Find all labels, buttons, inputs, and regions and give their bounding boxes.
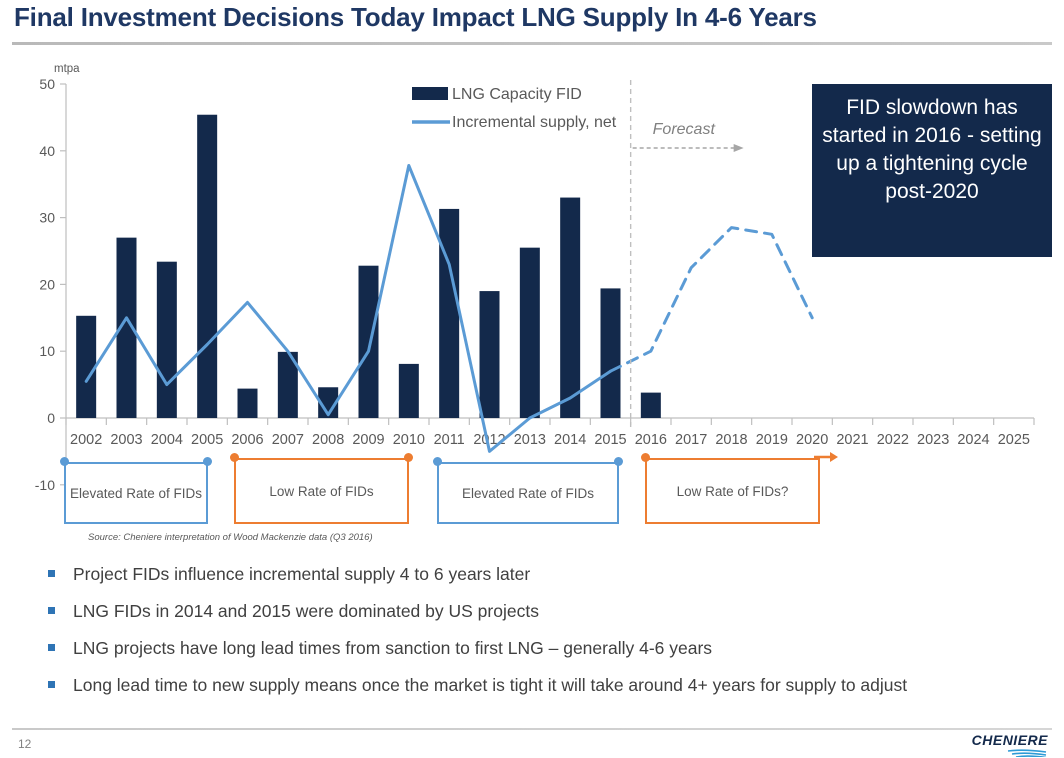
annotation-label: Elevated Rate of FIDs <box>462 485 594 502</box>
x-tick-label-2005: 2005 <box>191 432 223 448</box>
annotation-endpoint-dot <box>230 453 239 462</box>
annotation-endpoint-dot <box>60 457 69 466</box>
bullet-marker-icon <box>48 644 55 651</box>
x-tick-label-2014: 2014 <box>554 432 586 448</box>
forecast-label: Forecast <box>653 121 716 138</box>
annotation-label: Low Rate of FIDs? <box>677 483 789 500</box>
x-tick-label-2004: 2004 <box>151 432 183 448</box>
annotation-box-3: Elevated Rate of FIDs <box>437 462 619 524</box>
x-tick-label-2018: 2018 <box>715 432 747 448</box>
annotation-arrow-icon <box>814 450 844 464</box>
annotation-endpoint-dot <box>614 457 623 466</box>
x-tick-label-2021: 2021 <box>836 432 868 448</box>
annotation-endpoint-dot <box>404 453 413 462</box>
bar-2014 <box>560 198 580 418</box>
y-tick-label: 0 <box>47 410 55 426</box>
x-tick-label-2011: 2011 <box>434 432 465 448</box>
bar-2004 <box>157 262 177 418</box>
x-tick-label-2016: 2016 <box>635 432 667 448</box>
y-tick-label: -10 <box>35 477 55 493</box>
callout-box: FID slowdown has started in 2016 - setti… <box>812 84 1052 257</box>
y-tick-label: 40 <box>39 143 55 159</box>
annotation-endpoint-dot <box>641 453 650 462</box>
x-tick-label-2025: 2025 <box>998 432 1030 448</box>
supply-line-forecast <box>611 228 813 372</box>
x-tick-label-2009: 2009 <box>352 432 384 448</box>
legend-label-bar: LNG Capacity FID <box>452 86 582 103</box>
bullet-text: Long lead time to new supply means once … <box>73 673 907 698</box>
x-tick-label-2010: 2010 <box>393 432 425 448</box>
annotation-box-4: Low Rate of FIDs? <box>645 458 820 524</box>
bar-2012 <box>480 291 500 418</box>
bullet-text: LNG projects have long lead times from s… <box>73 636 712 661</box>
source-note: Source: Cheniere interpretation of Wood … <box>88 532 373 543</box>
title-bar: Final Investment Decisions Today Impact … <box>0 0 1064 46</box>
x-tick-label-2017: 2017 <box>675 432 707 448</box>
bullet-list: Project FIDs influence incremental suppl… <box>48 562 1038 710</box>
cheniere-logo-icon <box>962 733 1048 757</box>
x-tick-label-2022: 2022 <box>877 432 909 448</box>
bullet-marker-icon <box>48 570 55 577</box>
x-tick-label-2015: 2015 <box>594 432 626 448</box>
x-tick-label-2020: 2020 <box>796 432 828 448</box>
bar-2010 <box>399 364 419 418</box>
y-tick-label: 50 <box>39 76 55 92</box>
legend-label-line: Incremental supply, net <box>452 114 617 131</box>
bar-2015 <box>601 288 621 418</box>
bullet-marker-icon <box>48 681 55 688</box>
bullet-item: LNG FIDs in 2014 and 2015 were dominated… <box>48 599 1038 624</box>
x-tick-label-2023: 2023 <box>917 432 949 448</box>
x-tick-label-2006: 2006 <box>231 432 263 448</box>
page-title: Final Investment Decisions Today Impact … <box>14 2 817 33</box>
annotation-box-2: Low Rate of FIDs <box>234 458 409 524</box>
x-tick-label-2007: 2007 <box>272 432 304 448</box>
bullet-item: LNG projects have long lead times from s… <box>48 636 1038 661</box>
x-tick-label-2024: 2024 <box>957 432 989 448</box>
bullet-marker-icon <box>48 607 55 614</box>
bar-2013 <box>520 248 540 418</box>
x-tick-label-2008: 2008 <box>312 432 344 448</box>
bullet-item: Long lead time to new supply means once … <box>48 673 1038 698</box>
annotation-label: Elevated Rate of FIDs <box>70 485 202 502</box>
y-axis-unit-label: mtpa <box>54 63 80 75</box>
x-tick-label-2013: 2013 <box>514 432 546 448</box>
bar-2009 <box>359 266 379 418</box>
bar-2006 <box>238 389 258 418</box>
forecast-arrow-head-icon <box>734 144 744 152</box>
x-tick-label-2003: 2003 <box>110 432 142 448</box>
annotation-box-1: Elevated Rate of FIDs <box>64 462 208 524</box>
title-divider <box>12 42 1052 45</box>
bullet-item: Project FIDs influence incremental suppl… <box>48 562 1038 587</box>
bar-2011 <box>439 209 459 418</box>
y-tick-label: 30 <box>39 210 55 226</box>
bullet-text: Project FIDs influence incremental suppl… <box>73 562 530 587</box>
y-tick-label: 10 <box>39 343 55 359</box>
bar-2002 <box>76 316 96 418</box>
annotation-endpoint-dot <box>433 457 442 466</box>
bar-2005 <box>197 115 217 418</box>
footer-divider <box>12 728 1052 730</box>
page-number: 12 <box>18 737 31 751</box>
bar-2016 <box>641 393 661 418</box>
bullet-text: LNG FIDs in 2014 and 2015 were dominated… <box>73 599 539 624</box>
annotation-endpoint-dot <box>203 457 212 466</box>
annotation-label: Low Rate of FIDs <box>269 483 373 500</box>
y-tick-label: 20 <box>39 276 55 292</box>
x-tick-label-2002: 2002 <box>70 432 102 448</box>
legend-swatch-bar <box>412 87 448 100</box>
x-tick-label-2019: 2019 <box>756 432 788 448</box>
